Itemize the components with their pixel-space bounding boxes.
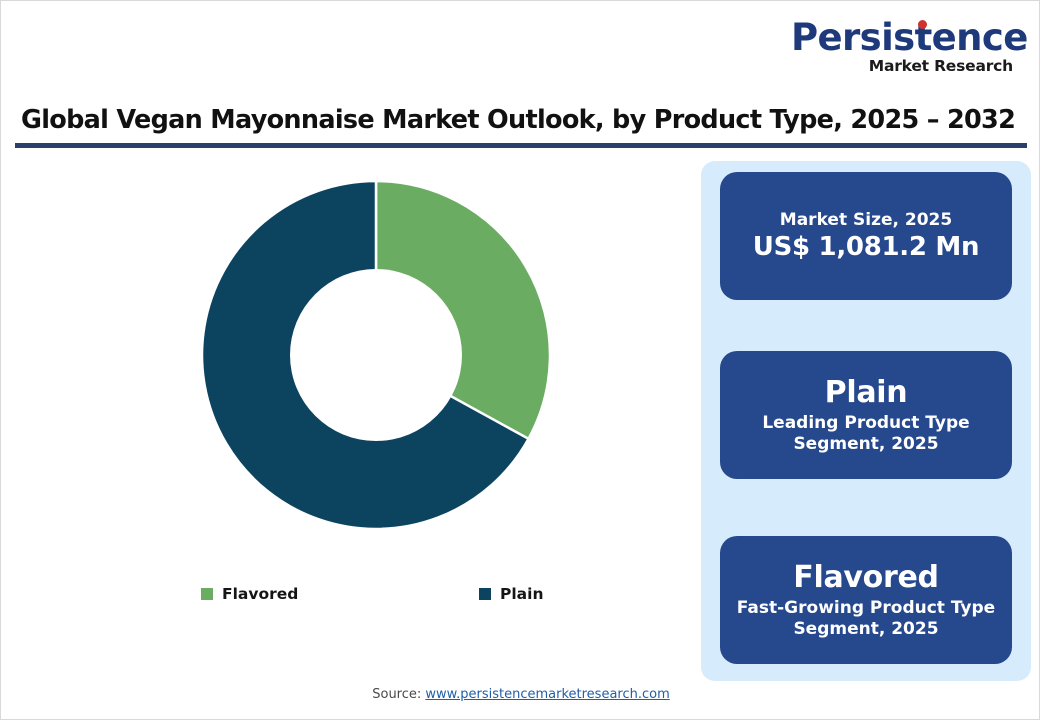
source-label: Source: xyxy=(372,687,425,702)
legend-item-label: Plain xyxy=(500,585,543,603)
market-size-value: US$ 1,081.2 Mn xyxy=(753,232,979,262)
leading-segment-caption-line1: Leading Product Type xyxy=(752,413,979,434)
market-size-caption: Market Size, 2025 xyxy=(770,210,962,231)
market-size-card: Market Size, 2025 US$ 1,081.2 Mn xyxy=(720,172,1012,300)
source-link[interactable]: www.persistencemarketresearch.com xyxy=(425,687,669,702)
fast-growing-segment-card: Flavored Fast-Growing Product Type Segme… xyxy=(720,536,1012,664)
leading-segment-caption-line2: Segment, 2025 xyxy=(783,434,948,455)
legend-swatch-icon xyxy=(479,588,491,600)
stats-panel: Market Size, 2025 US$ 1,081.2 Mn Plain L… xyxy=(701,161,1031,681)
red-dot-icon xyxy=(918,20,927,29)
infographic-page: Persistence Market Research Global Vegan… xyxy=(0,0,1040,720)
brand-tagline: Market Research xyxy=(791,59,1013,75)
fast-growing-caption-line2: Segment, 2025 xyxy=(783,619,948,640)
fast-growing-headline: Flavored xyxy=(793,560,938,595)
donut-chart-svg xyxy=(196,175,556,535)
chart-legend: Flavored Plain xyxy=(15,581,691,615)
brand-logo: Persistence Market Research xyxy=(791,19,1013,75)
leading-segment-headline: Plain xyxy=(825,375,908,410)
legend-item-plain[interactable]: Plain xyxy=(479,585,543,603)
brand-name: Persistence xyxy=(791,19,1013,56)
title-divider xyxy=(15,143,1027,148)
source-footer: Source: www.persistencemarketresearch.co… xyxy=(1,687,1040,702)
leading-segment-card: Plain Leading Product Type Segment, 2025 xyxy=(720,351,1012,479)
legend-item-flavored[interactable]: Flavored xyxy=(201,585,298,603)
fast-growing-caption-line1: Fast-Growing Product Type xyxy=(727,598,1005,619)
legend-item-label: Flavored xyxy=(222,585,298,603)
donut-chart xyxy=(15,161,691,561)
legend-swatch-icon xyxy=(201,588,213,600)
page-title: Global Vegan Mayonnaise Market Outlook, … xyxy=(21,105,1021,135)
donut-hole xyxy=(290,269,462,441)
